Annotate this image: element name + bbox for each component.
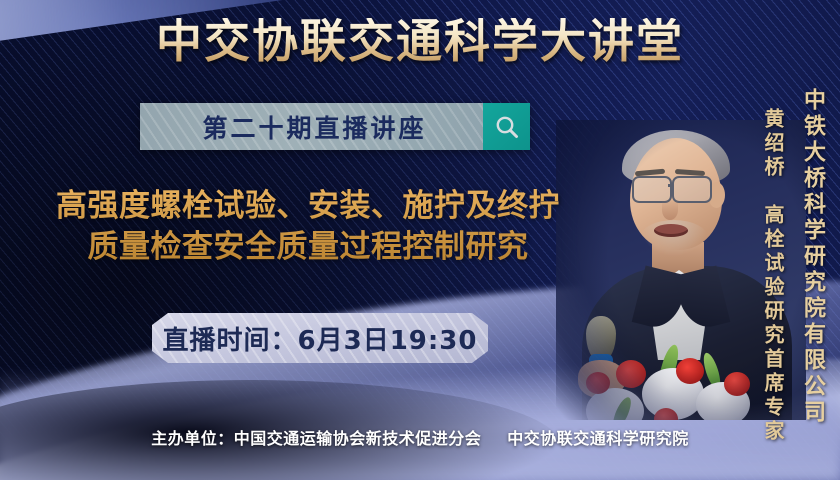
- footer-organizer-1: 中国交通运输协会新技术促进分会: [234, 429, 482, 448]
- series-bar: 第二十期直播讲座: [140, 103, 530, 150]
- lecture-title-line-2: 质量检查安全质量过程控制研究: [8, 227, 608, 268]
- search-icon[interactable]: [483, 103, 530, 150]
- lecture-title: 高强度螺栓试验、安装、施拧及终拧 质量检查安全质量过程控制研究: [8, 186, 608, 268]
- broadcast-time-badge: 直播时间：6月3日19:30: [152, 313, 488, 363]
- livestream-poster: 中交协联交通科学大讲堂 第二十期直播讲座 高强度螺栓试验、安装、施拧及终拧 质量…: [0, 0, 840, 480]
- series-bar-label: 第二十期直播讲座: [140, 103, 483, 150]
- speaker-name-title: 黄绍桥 高栓试验研究首席专家: [759, 108, 788, 444]
- footer-prefix: 主办单位：: [151, 429, 234, 448]
- footer-organizers: 主办单位：中国交通运输协会新技术促进分会中交协联交通科学研究院: [0, 425, 840, 449]
- footer-organizer-2: 中交协联交通科学研究院: [507, 429, 689, 448]
- speaker-organization: 中铁大桥科学研究院有限公司: [796, 88, 828, 426]
- page-title: 中交协联交通科学大讲堂: [0, 18, 840, 64]
- lecture-title-line-1: 高强度螺栓试验、安装、施拧及终拧: [56, 188, 560, 224]
